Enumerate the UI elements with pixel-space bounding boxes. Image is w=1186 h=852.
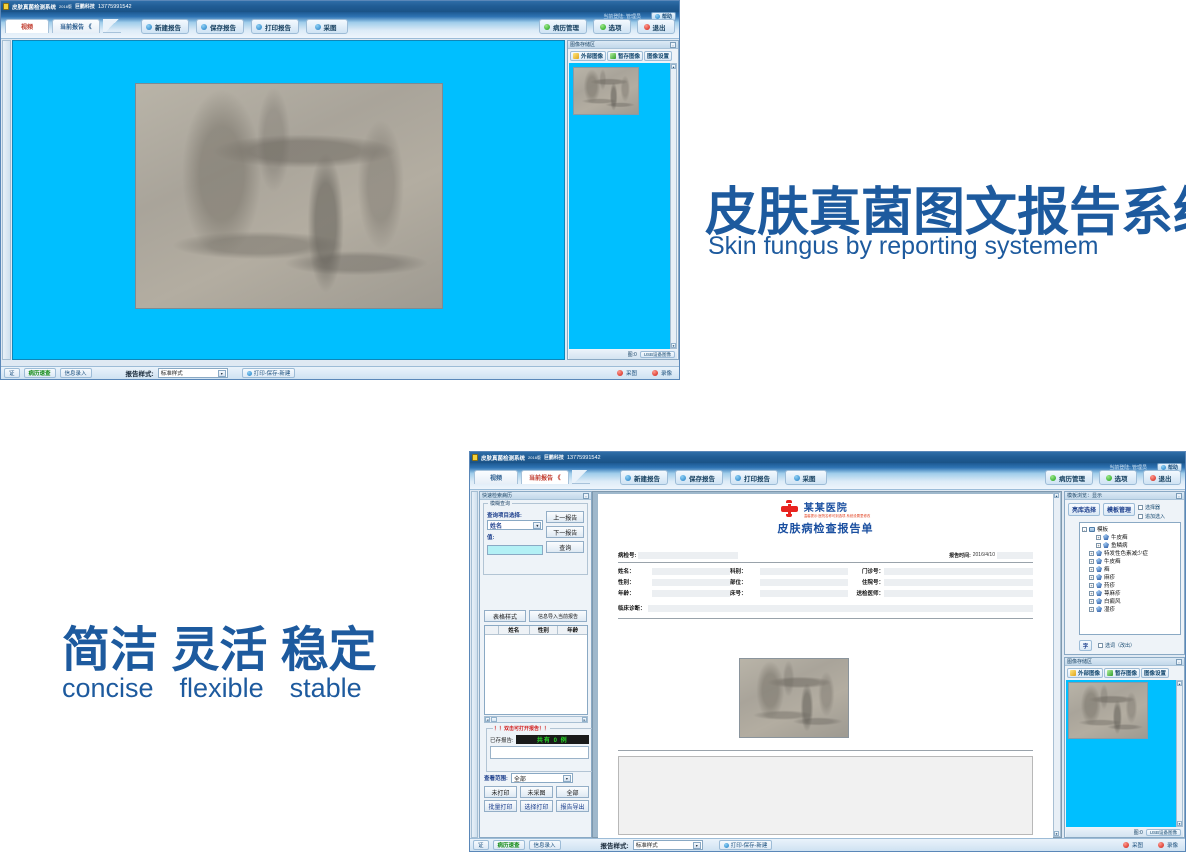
tree-node[interactable]: +鱼鳞病: [1082, 541, 1178, 549]
template-browse-panel: 模板浏览：显示 ▫ 亮库选择 模板管理 选择器 追加选入 -模板+牛皮癣+鱼鳞病…: [1064, 491, 1185, 655]
case-management-label: 病历管理: [553, 22, 579, 32]
temp-image-button[interactable]: 暂存图像: [607, 51, 643, 61]
image-settings-label: 图像设置: [647, 52, 669, 60]
chevron-down-icon-2[interactable]: ▾: [533, 522, 541, 529]
gem-icon: [1096, 574, 1102, 580]
cert-button-2[interactable]: 证: [473, 840, 489, 850]
scope-label: 查看范围:: [484, 774, 508, 782]
report-style-label-2: 报告样式:: [601, 840, 629, 850]
tree-node[interactable]: -模板: [1082, 525, 1178, 533]
folder-icon: [573, 53, 579, 59]
report-header: 某某医院 温馨提示:医院名称可到选项-系统设置里修改 皮肤病检查报告单: [598, 494, 1053, 536]
slogan-en-flexible: flexible: [180, 673, 264, 703]
save-report-button-2[interactable]: 保存报告: [675, 470, 723, 485]
print-report-button[interactable]: 打印报告: [251, 19, 299, 34]
app-window-bottom: 皮肤真菌检测系统 2016版 巨鹏科技 13775991542 当前登陆: 管理…: [469, 451, 1186, 852]
app-window-top: 皮肤真菌检测系统 2016版 巨鹏科技 13775991542 当前登陆: 管理…: [0, 0, 680, 380]
field-value-gender[interactable]: [652, 579, 730, 586]
panel-pin-icon-2[interactable]: ▫: [583, 493, 589, 499]
data-entry-button-2[interactable]: 信息录入: [529, 840, 561, 850]
import-to-report-button[interactable]: 信息导入当前报告: [529, 610, 587, 622]
column-header-gender: 性别: [530, 626, 559, 634]
field-value-outpatient-no[interactable]: [884, 568, 1033, 575]
saved-report-label: 已存报告:: [490, 736, 514, 744]
field-value-inpatient-no[interactable]: [884, 579, 1033, 586]
temp-image-label: 暂存图像: [618, 52, 640, 60]
print-report-icon-2: [735, 475, 741, 481]
red-cross-icon: [781, 500, 798, 517]
app-version-2: 2016版: [528, 455, 541, 461]
case-result-table[interactable]: 姓名 性别 年龄: [484, 625, 588, 715]
panel-pin-icon[interactable]: ▫: [670, 42, 676, 48]
report-vscrollbar[interactable]: ▴ ▾: [1053, 492, 1061, 837]
scroll-up-arrow-2[interactable]: ▴: [1177, 681, 1182, 686]
gem-icon: [1096, 598, 1102, 604]
marketing-slogan-cn: 简洁 灵活 稳定: [62, 625, 377, 677]
scroll-down-arrow[interactable]: ▾: [671, 343, 676, 348]
quick-search-header: 快速检索病历 ▫: [480, 492, 591, 500]
tab-video-2[interactable]: 视频: [474, 470, 518, 484]
field-select[interactable]: 姓名 ▾: [487, 520, 543, 530]
field-value-name[interactable]: [652, 568, 730, 575]
thumbnail-scrollbar[interactable]: ▴ ▾: [670, 63, 677, 349]
save-report-label-2: 保存报告: [689, 473, 715, 483]
library-select-label: 亮库选择: [1072, 505, 1096, 514]
left-dock-strip-2[interactable]: [471, 491, 478, 838]
ribbon-toolbar-2: 当前登陆: 管理员 帮助 视频 当前报告 《 新建报告 保存报告: [470, 463, 1185, 490]
tab-current-report-2[interactable]: 当前报告 《: [521, 470, 569, 484]
tab-trail: [103, 19, 121, 33]
all-filter-label: 全部: [566, 788, 578, 797]
uncaptured-filter-button[interactable]: 未采图: [520, 786, 553, 798]
tree-node[interactable]: +特发性色素减少症: [1082, 549, 1178, 557]
print-report-icon: [256, 24, 262, 30]
external-image-label: 外部图像: [581, 52, 603, 60]
save-report-button[interactable]: 保存报告: [196, 19, 244, 34]
prev-report-button[interactable]: 上一报告: [546, 511, 584, 523]
template-manage-label: 模板管理: [1107, 505, 1131, 514]
expand-icon[interactable]: +: [1089, 551, 1094, 556]
tree-node-label: 模板: [1097, 525, 1108, 533]
select-print-button[interactable]: 选择打印: [520, 800, 553, 812]
capture-status-label: 采图: [626, 369, 637, 377]
field-value-age[interactable]: [652, 590, 730, 597]
options-label-2: 选项: [1115, 473, 1128, 483]
ribbon-right-group-2: 病历管理 选项 退出: [1045, 470, 1181, 485]
selector-checkbox-row[interactable]: 选择器: [1138, 504, 1165, 511]
chevron-down-icon[interactable]: ▾: [218, 370, 226, 377]
search-label: 查询: [559, 543, 571, 552]
saved-report-group: ！！双击可打开报告！！ 已存报告: 共有 0 例: [486, 728, 593, 772]
quick-search-panel: 快速检索病历 ▫ 模糊查询 查询项目选择: 姓名 ▾ 值: 上一报告 下一报告: [479, 491, 592, 838]
quick-search-label-2: 病历速查: [498, 841, 520, 849]
tab-video-label-2: 视频: [490, 473, 502, 482]
options-icon-2: [1106, 475, 1112, 481]
print-save-new-button[interactable]: 打印-保存-新建: [242, 368, 296, 378]
th-name: [485, 626, 499, 634]
table-style-label: 表格样式: [493, 612, 517, 621]
print-save-new-label-2: 打印-保存-新建: [731, 841, 768, 849]
field-label-age: 年龄：: [618, 589, 652, 597]
patient-fields-grid: 姓名： 科别： 门诊号： 性别： 部位： 住院号： 年龄： 床号： 送检医师：: [618, 567, 1033, 597]
usb-device-image-button-2[interactable]: USB设备图像: [1146, 829, 1181, 836]
left-dock-strip[interactable]: [2, 40, 11, 360]
thumbnail-scrollbar-2[interactable]: ▴ ▾: [1176, 680, 1183, 827]
pick-word-checkbox-label: 选词（改出）: [1105, 642, 1135, 649]
report-rule-2: [618, 618, 1033, 619]
report-scroll-up-arrow[interactable]: ▴: [1054, 493, 1059, 498]
capture-status-label-2: 采图: [1132, 841, 1143, 849]
options-label: 选项: [609, 22, 622, 32]
tree-node[interactable]: +药疹: [1082, 581, 1178, 589]
all-filter-button[interactable]: 全部: [556, 786, 589, 798]
exit-button-2[interactable]: 退出: [1143, 470, 1181, 485]
image-count: 图:0: [628, 351, 637, 358]
tree-node[interactable]: +湿疹: [1082, 605, 1178, 613]
expand-icon[interactable]: +: [1089, 607, 1094, 612]
cert-label-2: 证: [478, 841, 484, 849]
hscroll-thumb[interactable]: [491, 717, 497, 722]
next-report-button[interactable]: 下一报告: [546, 526, 584, 538]
template-tree[interactable]: -模板+牛皮癣+鱼鳞病+特发性色素减少症+牛皮癣+癣+麻疹+药疹+荨麻疹+白癜风…: [1079, 522, 1181, 635]
selector-checkbox[interactable]: [1138, 505, 1143, 510]
thumbnail-strip-2[interactable]: [1066, 680, 1176, 827]
cert-button[interactable]: 证: [4, 368, 20, 378]
image-storage-title-2: 图像存储区: [1067, 658, 1092, 665]
tree-node[interactable]: +荨麻疹: [1082, 589, 1178, 597]
thumbnail-strip[interactable]: [569, 63, 670, 349]
report-microscope-image[interactable]: [739, 658, 849, 738]
pick-word-checkbox-row[interactable]: 选词（改出）: [1098, 642, 1135, 649]
tree-node-label: 白癜风: [1104, 597, 1121, 605]
field-value-site[interactable]: [760, 579, 848, 586]
export-report-button[interactable]: 报告导出: [556, 800, 589, 812]
gem-icon: [610, 53, 616, 59]
report-style-value: 标准样式: [161, 369, 183, 377]
exam-no-label: 病检号:: [618, 551, 636, 559]
image-storage-toolbar-2: 外部图像 暂存图像 图像设置: [1065, 666, 1184, 680]
report-findings-box[interactable]: [618, 756, 1033, 835]
field-label-site: 部位：: [730, 578, 760, 586]
capture-image-button[interactable]: 采图: [306, 19, 348, 34]
field-label-gender: 性别：: [618, 578, 652, 586]
capture-image-icon-2: [794, 475, 800, 481]
new-report-button[interactable]: 新建报告: [141, 19, 189, 34]
expand-icon[interactable]: +: [1089, 559, 1094, 564]
report-rule-3: [618, 750, 1033, 751]
prev-report-label: 上一报告: [553, 513, 577, 522]
new-report-label: 新建报告: [155, 22, 181, 32]
report-time-label: 报告时间:: [949, 552, 971, 559]
gem-icon: [1103, 534, 1109, 540]
report-style-label: 报告样式:: [126, 368, 154, 378]
image-settings-button-2[interactable]: 图像设置: [1141, 668, 1169, 678]
image-count-2: 图:0: [1134, 829, 1143, 836]
field-label-bed-no: 床号：: [730, 589, 760, 597]
temp-image-button-2[interactable]: 暂存图像: [1104, 668, 1140, 678]
image-storage-title: 图像存储区: [570, 41, 595, 48]
ribbon-toolbar: 当前登陆: 管理员 帮助 视频 当前报告 《 新建报告 保存报告: [1, 12, 679, 39]
data-entry-button[interactable]: 信息录入: [60, 368, 92, 378]
report-time-field[interactable]: [997, 552, 1033, 559]
saved-report-listbox[interactable]: [490, 746, 589, 759]
unprinted-filter-button[interactable]: 未打印: [484, 786, 517, 798]
data-entry-label-2: 信息录入: [534, 841, 556, 849]
tab-current-report[interactable]: 当前报告 《: [52, 19, 100, 33]
tree-node-label: 麻疹: [1104, 573, 1115, 581]
ribbon-right-group: 病历管理 选项 退出: [539, 19, 675, 34]
options-button[interactable]: 选项: [593, 19, 631, 34]
scroll-down-arrow-2[interactable]: ▾: [1177, 821, 1182, 826]
search-button[interactable]: 查询: [546, 541, 584, 553]
report-style-value-2: 标准样式: [636, 841, 658, 849]
image-storage-toolbar: 外部图像 暂存图像 图像设置: [568, 49, 678, 63]
tab-strip: 视频 当前报告 《: [5, 19, 121, 33]
image-panel-footer-2: 图:0 USB设备图像: [1066, 828, 1183, 837]
field-value-bed-no[interactable]: [760, 590, 848, 597]
collapse-icon[interactable]: -: [1082, 527, 1087, 532]
column-header-name: 姓名: [499, 626, 530, 634]
image-storage-header: 图像存储区 ▫: [568, 41, 678, 49]
tree-node[interactable]: +麻疹: [1082, 573, 1178, 581]
case-management-label-2: 病历管理: [1059, 473, 1085, 483]
scope-select[interactable]: 全部 ▾: [511, 773, 573, 783]
template-manage-button[interactable]: 模板管理: [1103, 503, 1135, 516]
save-report-icon-2: [680, 475, 686, 481]
field-value-referring-doctor[interactable]: [884, 590, 1033, 597]
selector-checkbox-label: 选择器: [1145, 504, 1160, 511]
expand-icon[interactable]: +: [1089, 583, 1094, 588]
table-header-row: 姓名 性别 年龄: [485, 626, 587, 635]
quick-search-title: 快速检索病历: [482, 492, 512, 499]
image-storage-header-2: 图像存储区 ▫: [1065, 658, 1184, 666]
value-input[interactable]: [487, 545, 543, 555]
options-icon: [600, 24, 606, 30]
external-image-button-2[interactable]: 外部图像: [1067, 668, 1103, 678]
company-name: 巨鹏科技: [75, 3, 95, 10]
lock-icon: [3, 3, 9, 10]
expand-icon[interactable]: +: [1089, 567, 1094, 572]
image-storage-panel-2: 图像存储区 ▫ 外部图像 暂存图像 图像设置 ▴ ▾ 图:0: [1064, 657, 1185, 838]
gem-icon: [1096, 566, 1102, 572]
tree-node-label: 癣: [1104, 565, 1110, 573]
expand-icon[interactable]: +: [1096, 543, 1101, 548]
record-status-label-2: 录像: [1167, 841, 1178, 849]
tab-video-label: 视频: [21, 22, 33, 31]
hospital-name: 某某医院: [804, 499, 871, 514]
tree-node-label: 鱼鳞病: [1111, 541, 1128, 549]
tree-node[interactable]: +癣: [1082, 565, 1178, 573]
data-entry-label: 信息录入: [65, 369, 87, 377]
status-bar-2: 证 病历速查 信息录入 报告样式: 标准样式 ▾ 打印-保存-新建 采图 录像: [470, 838, 1185, 851]
capture-image-icon: [315, 24, 321, 30]
capture-status-icon-2: [1123, 842, 1129, 848]
quick-search-button-2[interactable]: 病历速查: [493, 840, 525, 850]
save-report-icon: [201, 24, 207, 30]
table-hscrollbar[interactable]: ◂ ▸: [484, 716, 588, 723]
fuzzy-query-caption: 模糊查询: [488, 500, 512, 507]
panel-pin-icon-4[interactable]: ▫: [1176, 659, 1182, 665]
batch-print-label: 批量打印: [488, 802, 512, 811]
external-image-label-2: 外部图像: [1078, 669, 1100, 677]
field-select-label: 查询项目选择:: [487, 511, 543, 519]
append-checkbox-row[interactable]: 追加选入: [1138, 513, 1165, 520]
exam-no-field[interactable]: [638, 552, 738, 559]
print-save-new-label: 打印-保存-新建: [254, 369, 291, 377]
tab-trail-2: [572, 470, 590, 484]
video-workspace[interactable]: [12, 40, 565, 360]
panel-pin-icon-3[interactable]: ▫: [1176, 493, 1182, 499]
tree-node-label: 牛皮癣: [1104, 557, 1121, 565]
gem-icon: [1096, 550, 1102, 556]
scroll-up-arrow[interactable]: ▴: [671, 64, 676, 69]
capture-status-button-2[interactable]: 采图: [1119, 840, 1147, 850]
contact-phone: 13775991542: [98, 4, 132, 10]
usb-device-image-button[interactable]: USB设备图像: [640, 351, 675, 358]
print-save-new-icon: [247, 371, 252, 376]
diagnosis-field[interactable]: [648, 605, 1033, 612]
tree-node[interactable]: +牛皮癣: [1082, 557, 1178, 565]
slogan-en-stable: stable: [290, 673, 362, 703]
title-bar: 皮肤真菌检测系统 2016版 巨鹏科技 13775991542: [1, 1, 679, 12]
expand-icon[interactable]: +: [1089, 591, 1094, 596]
library-select-button[interactable]: 亮库选择: [1068, 503, 1100, 516]
image-panel-footer: 图:0 USB设备图像: [569, 350, 677, 359]
image-settings-label-2: 图像设置: [1144, 669, 1166, 677]
record-status-icon-2: [1158, 842, 1164, 848]
chevron-down-icon-3[interactable]: ▾: [563, 775, 571, 782]
uncaptured-filter-label: 未采图: [527, 788, 545, 797]
tree-node[interactable]: +牛皮癣: [1082, 533, 1178, 541]
record-status-button[interactable]: 录像: [648, 368, 676, 378]
saved-report-count: 共有 0 例: [516, 735, 589, 744]
tree-node-label: 湿疹: [1104, 605, 1115, 613]
external-image-button[interactable]: 外部图像: [570, 51, 606, 61]
tree-node-label: 药疹: [1104, 581, 1115, 589]
print-report-label: 打印报告: [265, 22, 291, 32]
case-management-icon: [544, 24, 550, 30]
status-bar: 证 病历速查 信息录入 报告样式: 标准样式 ▾ 打印-保存-新建 采图 录像: [1, 366, 679, 379]
template-panel-header: 模板浏览：显示 ▫: [1065, 492, 1184, 500]
capture-image-button-2[interactable]: 采图: [785, 470, 827, 485]
tree-node-label: 荨麻疹: [1104, 589, 1121, 597]
status-bar-right: 采图 录像: [613, 368, 676, 378]
exit-icon: [644, 24, 650, 30]
gem-icon-2: [1107, 670, 1113, 676]
column-header-age: 年龄: [558, 626, 587, 634]
exit-icon-2: [1150, 475, 1156, 481]
case-management-button-2[interactable]: 病历管理: [1045, 470, 1093, 485]
thumbnail-item[interactable]: [573, 67, 639, 115]
report-rule-1: [618, 562, 1033, 563]
tab-video[interactable]: 视频: [5, 19, 49, 33]
folder-icon: [1089, 527, 1095, 532]
tree-node-label: 牛皮癣: [1111, 533, 1128, 541]
expand-icon[interactable]: +: [1096, 535, 1101, 540]
lock-icon-2: [472, 454, 478, 461]
scope-value: 全部: [514, 774, 526, 783]
next-report-label: 下一报告: [553, 528, 577, 537]
export-report-label: 报告导出: [560, 802, 584, 811]
folder-icon-2: [1070, 670, 1076, 676]
print-save-new-icon-2: [724, 843, 729, 848]
fuzzy-query-group: 模糊查询 查询项目选择: 姓名 ▾ 值: 上一报告 下一报告 查询: [483, 503, 588, 575]
status-bar-right-2: 采图 录像: [1119, 840, 1182, 850]
exit-button[interactable]: 退出: [637, 19, 675, 34]
field-label-name: 姓名：: [618, 567, 652, 575]
new-report-label-2: 新建报告: [634, 473, 660, 483]
expand-icon[interactable]: +: [1089, 599, 1094, 604]
options-button-2[interactable]: 选项: [1099, 470, 1137, 485]
gem-icon: [1096, 582, 1102, 588]
word-button-label: 字: [1083, 642, 1089, 650]
tab-current-report-label: 当前报告 《: [60, 22, 92, 31]
report-scroll-area[interactable]: 某某医院 温馨提示:医院名称可到选项-系统设置里修改 皮肤病检查报告单 病检号:…: [592, 491, 1062, 838]
hscroll-left-arrow[interactable]: ◂: [485, 717, 490, 722]
hscroll-right-arrow[interactable]: ▸: [582, 717, 587, 722]
app-title-2: 皮肤真菌检测系统: [481, 454, 525, 462]
thumbnail-item-2[interactable]: [1068, 682, 1148, 739]
append-checkbox[interactable]: [1138, 514, 1143, 519]
ribbon-button-group: 新建报告 保存报告 打印报告 采图: [141, 19, 348, 34]
image-settings-button[interactable]: 图像设置: [644, 51, 672, 61]
expand-icon[interactable]: +: [1089, 575, 1094, 580]
case-management-icon-2: [1050, 475, 1056, 481]
report-style-select-2[interactable]: 标准样式 ▾: [633, 840, 703, 850]
pick-word-checkbox[interactable]: [1098, 643, 1103, 648]
field-label-outpatient-no: 门诊号：: [848, 567, 884, 575]
quick-search-button[interactable]: 病历速查: [24, 368, 56, 378]
tab-current-report-label-2: 当前报告 《: [529, 473, 561, 482]
gem-icon: [1096, 606, 1102, 612]
marketing-title-en: Skin fungus by reporting systemem: [708, 232, 1098, 260]
word-button[interactable]: 字: [1079, 640, 1092, 651]
table-style-button[interactable]: 表格样式: [484, 610, 526, 622]
field-label-department: 科别：: [730, 567, 760, 575]
report-time-value: 2016/4/10: [973, 552, 995, 558]
case-management-button[interactable]: 病历管理: [539, 19, 587, 34]
report-scroll-down-arrow[interactable]: ▾: [1054, 831, 1059, 836]
capture-status-button[interactable]: 采图: [613, 368, 641, 378]
chevron-down-icon-4[interactable]: ▾: [693, 842, 701, 849]
contact-phone-2: 13775991542: [567, 455, 601, 461]
app-version: 2016版: [59, 4, 72, 10]
exit-label: 退出: [653, 22, 666, 32]
new-report-button-2[interactable]: 新建报告: [620, 470, 668, 485]
quick-search-label: 病历速查: [29, 369, 51, 377]
print-report-button-2[interactable]: 打印报告: [730, 470, 778, 485]
cert-label: 证: [9, 369, 15, 377]
batch-print-button[interactable]: 批量打印: [484, 800, 517, 812]
usb-device-image-label-2: USB设备图像: [1150, 830, 1177, 836]
ribbon-button-group-2: 新建报告 保存报告 打印报告 采图: [620, 470, 827, 485]
hospital-hint: 温馨提示:医院名称可到选项-系统设置里修改: [804, 513, 871, 518]
record-status-button-2[interactable]: 录像: [1154, 840, 1182, 850]
new-report-icon-2: [625, 475, 631, 481]
capture-status-icon: [617, 370, 623, 376]
report-title: 皮肤病检查报告单: [598, 520, 1053, 536]
microscope-image: [135, 83, 443, 309]
report-page[interactable]: 某某医院 温馨提示:医院名称可到选项-系统设置里修改 皮肤病检查报告单 病检号:…: [598, 494, 1053, 839]
diagnosis-label: 临床诊断：: [618, 604, 646, 612]
gem-icon: [1096, 590, 1102, 596]
new-report-icon: [146, 24, 152, 30]
template-panel-title: 模板浏览：显示: [1067, 492, 1102, 499]
report-style-select[interactable]: 标准样式 ▾: [158, 368, 228, 378]
tree-node[interactable]: +白癜风: [1082, 597, 1178, 605]
print-save-new-button-2[interactable]: 打印-保存-新建: [719, 840, 773, 850]
field-value-department[interactable]: [760, 568, 848, 575]
